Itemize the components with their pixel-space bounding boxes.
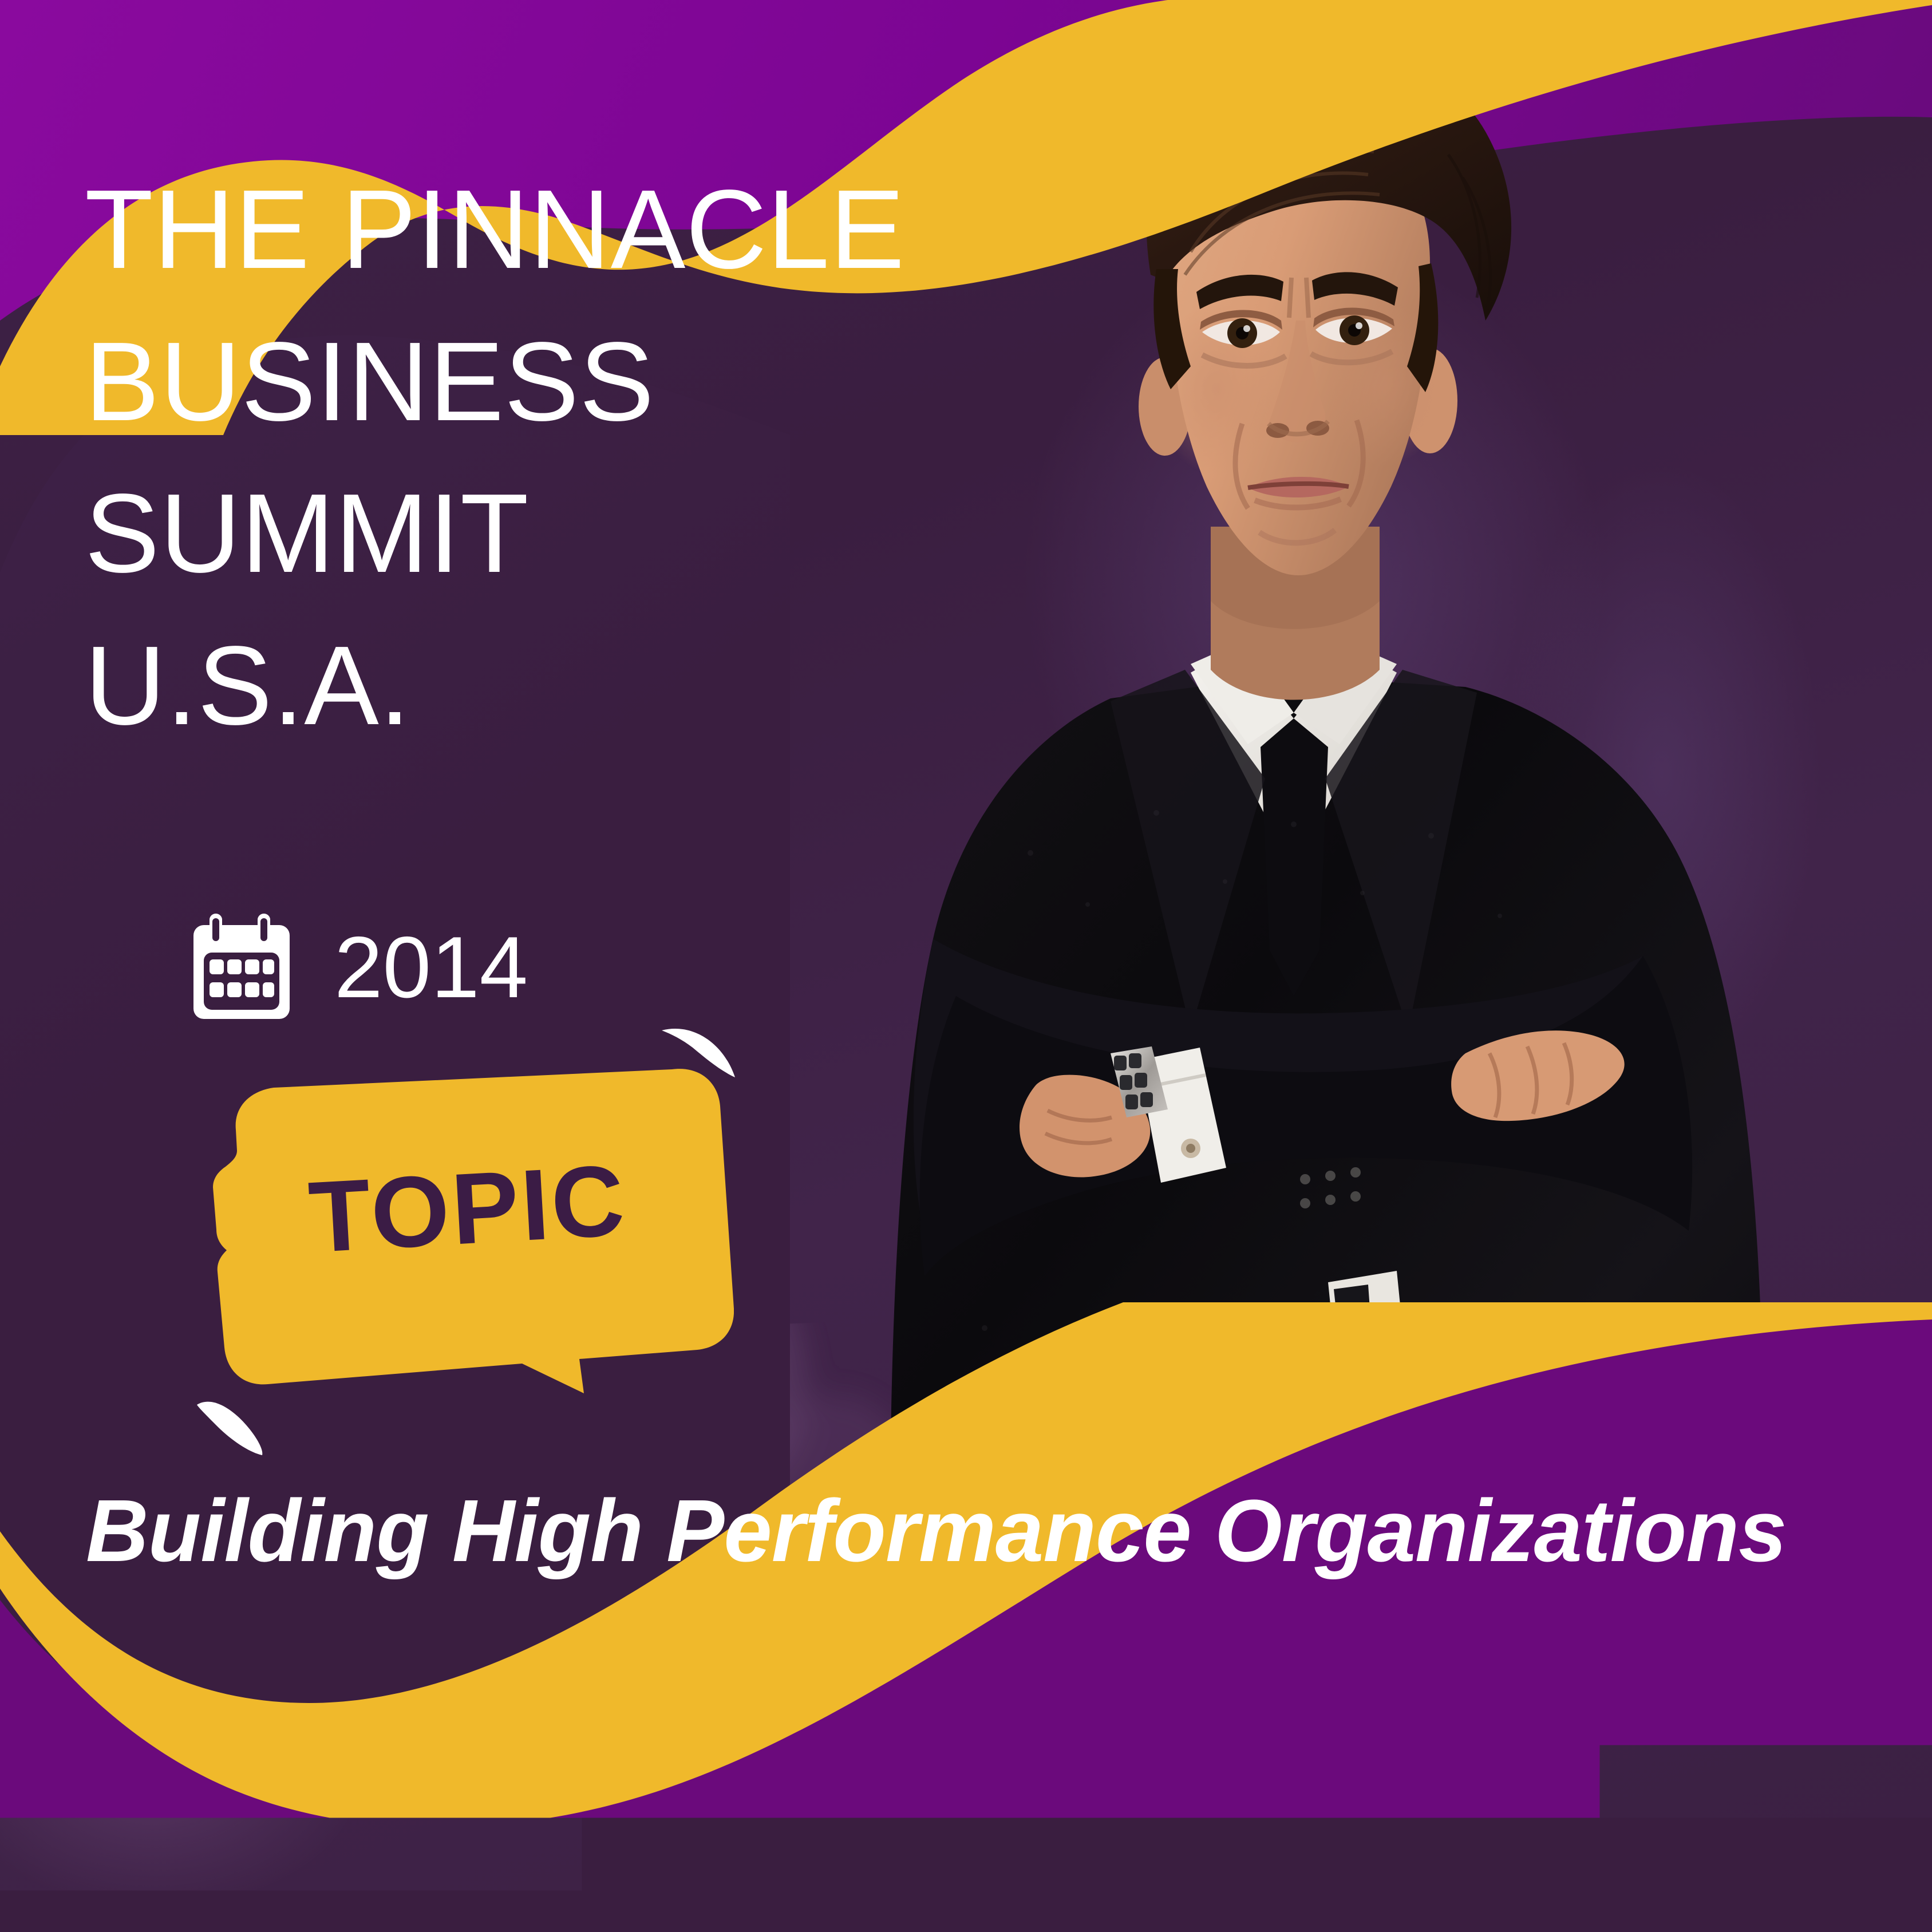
arc-accent-top-icon	[651, 1018, 743, 1104]
topic-badge[interactable]: TOPIC	[202, 1066, 734, 1398]
event-year: 2014	[334, 924, 528, 1011]
event-date-row: 2014	[189, 911, 528, 1024]
title-line-1: THE PINNACLE	[85, 153, 1069, 306]
arc-accent-bottom-icon	[189, 1378, 280, 1464]
calendar-icon	[189, 911, 310, 1024]
title-line-3: SUMMIT	[85, 457, 1069, 610]
poster-title: THE PINNACLE BUSINESS SUMMIT U.S.A.	[85, 153, 1069, 761]
title-line-4: U.S.A.	[85, 610, 1069, 762]
title-line-2: BUSINESS	[85, 306, 1069, 458]
poster-subtitle: Building High Performance Organizations	[86, 1480, 1890, 1582]
event-poster: THE PINNACLE BUSINESS SUMMIT U.S.A.	[0, 0, 1932, 1932]
